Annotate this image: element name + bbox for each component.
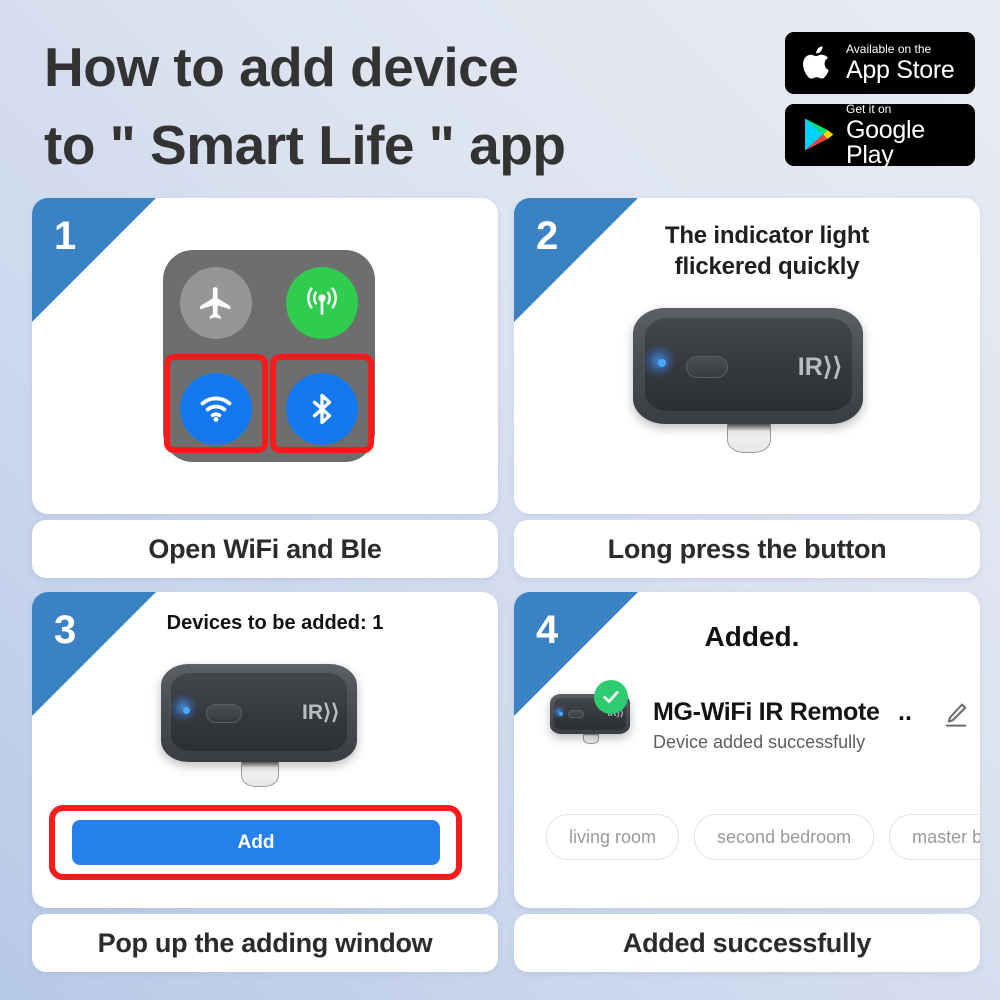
add-button[interactable]: Add [72, 820, 440, 865]
usb-c-connector [727, 421, 771, 453]
google-play-badge-sub: Get it on [846, 103, 975, 115]
device-pairing-button [568, 710, 584, 718]
toggle-airplane-mode[interactable] [163, 250, 269, 356]
success-check-icon [594, 680, 628, 714]
indicator-light-heading-line-1: The indicator light [665, 222, 869, 249]
page-title-line-2: to " Smart Life " app [44, 106, 704, 184]
ir-blaster-device: IR⟩⟩ [633, 308, 863, 424]
step-badge-triangle [32, 198, 156, 322]
step-card-3-body: Devices to be added: 1 IR⟩⟩ Add 3 [32, 592, 498, 908]
toggle-bluetooth[interactable] [269, 356, 375, 462]
steps-grid: 1 Open WiFi and Ble The indicator light … [32, 198, 980, 972]
page-title: How to add device to " Smart Life " app [44, 28, 704, 184]
google-play-badge-text: Get it on Google Play [846, 103, 975, 168]
store-badges: Available on the App Store Get it on Goo… [785, 32, 975, 166]
usb-c-connector [583, 732, 599, 744]
ir-label: IR⟩⟩ [302, 700, 339, 725]
room-chip-living-room[interactable]: living room [546, 814, 679, 860]
indicator-light-heading-line-2: flickered quickly [675, 253, 860, 280]
added-device-status: Device added successfully [653, 732, 865, 753]
page-header: How to add device to " Smart Life " app … [0, 0, 1000, 190]
google-play-badge-title: Google Play [846, 118, 975, 168]
step-caption: Long press the button [608, 534, 887, 565]
step-card-4-footer: Added successfully [514, 914, 980, 972]
toggle-cellular-data[interactable] [269, 250, 375, 356]
edit-pencil-icon[interactable] [941, 700, 971, 730]
step-badge-3: 3 [32, 592, 156, 716]
ir-label: IR⟩⟩ [798, 352, 843, 382]
ir-blaster-device: IR⟩⟩ [161, 664, 357, 762]
cellular-icon [286, 267, 358, 339]
device-pairing-button[interactable] [206, 704, 242, 723]
step-card-2: The indicator light flickered quickly IR… [514, 198, 980, 578]
step-caption: Added successfully [623, 928, 871, 959]
added-device-name-ellipsis: .. [898, 698, 912, 727]
step-card-2-body: The indicator light flickered quickly IR… [514, 198, 980, 514]
step-card-4: Added. IR⟩⟩ [514, 592, 980, 972]
device-pairing-button[interactable] [686, 356, 728, 378]
status-led-icon [183, 707, 190, 714]
room-chip-master-bedroom[interactable]: master bedroom [889, 814, 980, 860]
step-card-1-body: 1 [32, 198, 498, 514]
step-card-1-footer: Open WiFi and Ble [32, 520, 498, 578]
step-badge-1: 1 [32, 198, 156, 322]
airplane-icon [180, 267, 252, 339]
apple-logo-icon [799, 41, 839, 85]
status-led-icon [559, 712, 563, 716]
devices-to-be-added-text: Devices to be added: 1 [32, 612, 498, 635]
usb-c-connector [241, 759, 279, 787]
step-card-1: 1 Open WiFi and Ble [32, 198, 498, 578]
step-caption: Open WiFi and Ble [148, 534, 381, 565]
step-card-4-body: Added. IR⟩⟩ [514, 592, 980, 908]
added-device-row[interactable]: IR⟩⟩ MG-WiFi IR Remote .. D [550, 684, 970, 756]
app-store-badge[interactable]: Available on the App Store [785, 32, 975, 94]
app-store-badge-text: Available on the App Store [846, 43, 954, 83]
step-badge-triangle [32, 592, 156, 716]
indicator-light-heading: The indicator light flickered quickly [514, 220, 980, 282]
step-card-2-footer: Long press the button [514, 520, 980, 578]
added-device-name: MG-WiFi IR Remote [653, 698, 880, 727]
app-store-badge-title: App Store [846, 58, 954, 83]
app-store-badge-sub: Available on the [846, 43, 954, 55]
step-card-3-footer: Pop up the adding window [32, 914, 498, 972]
step-number: 1 [54, 214, 76, 259]
toggle-wifi[interactable] [163, 356, 269, 462]
device-thumbnail: IR⟩⟩ [550, 684, 636, 748]
room-chip-second-bedroom[interactable]: second bedroom [694, 814, 874, 860]
bluetooth-icon [286, 373, 358, 445]
added-heading: Added. [514, 621, 980, 653]
control-center-panel [163, 250, 375, 462]
room-chips-list: living room second bedroom master bedroo… [546, 814, 980, 860]
step-caption: Pop up the adding window [98, 928, 433, 959]
add-button-label: Add [238, 832, 275, 854]
google-play-badge[interactable]: Get it on Google Play [785, 104, 975, 166]
page-title-line-1: How to add device [44, 28, 704, 106]
wifi-icon [180, 373, 252, 445]
step-card-3: Devices to be added: 1 IR⟩⟩ Add 3 Pop up… [32, 592, 498, 972]
google-play-icon [799, 113, 839, 157]
